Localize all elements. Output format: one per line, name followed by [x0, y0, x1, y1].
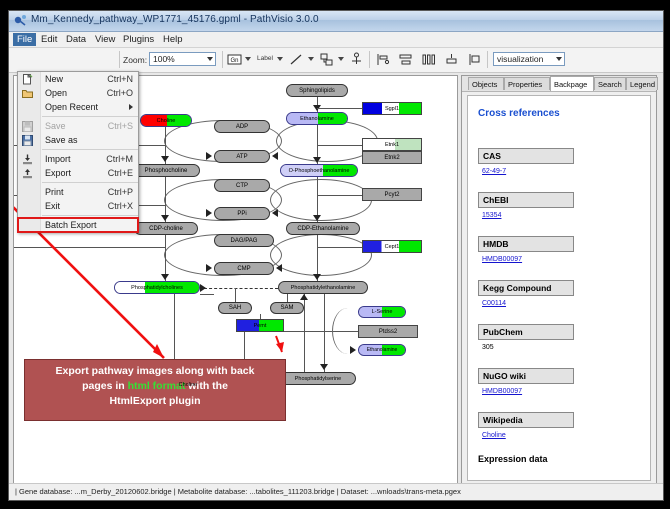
edge-to-sah — [235, 288, 236, 302]
menu-separator — [42, 116, 138, 117]
application-window: Mm_Kennedy_pathway_WP1771_45176.gpml - P… — [8, 10, 664, 501]
node-etnk1[interactable]: Etnk1 — [362, 138, 422, 151]
export-icon — [22, 168, 33, 179]
arrowhead-into-cmp-right — [276, 264, 282, 272]
arrowhead-down-7 — [313, 274, 321, 280]
same-width-tool-icon[interactable] — [444, 52, 459, 67]
node-sgpl1[interactable]: Sgpl1 — [362, 102, 422, 115]
node-sphingolipids[interactable]: Sphingolipids — [286, 84, 348, 97]
line-tool-icon[interactable] — [289, 52, 304, 67]
side-panel-tabs[interactable]: Objects Properties Backpage Search Legen… — [462, 76, 656, 92]
annotation-callout: Export pathway images along with back pa… — [24, 359, 286, 421]
annotation-line-1: Export pathway images along with back — [31, 364, 279, 379]
node-ethanolamine-2[interactable]: Ethanolamine — [358, 344, 406, 356]
menu-item-export[interactable]: Export Ctrl+E — [18, 166, 138, 180]
menu-file[interactable]: File — [13, 33, 36, 46]
node-adp[interactable]: ADP — [214, 120, 270, 133]
arrowhead-into-ppi-right — [272, 209, 278, 217]
node-pcyt2[interactable]: Pcyt2 — [362, 188, 422, 201]
node-label: L-Serine — [372, 309, 393, 315]
align-center-tool-icon[interactable] — [398, 52, 413, 67]
menu-edit[interactable]: Edit — [37, 33, 61, 46]
arrowhead-down-5 — [313, 157, 321, 163]
edge-to-pcyt2 — [317, 195, 363, 196]
file-menu-dropdown[interactable]: New Ctrl+N Open Ctrl+O Open Recent Save … — [17, 71, 139, 233]
node-cdp-ethanolamine[interactable]: CDP-Ethanolamine — [286, 222, 360, 235]
node-phosphatidylcholines[interactable]: Phosphatidylcholines — [114, 281, 200, 294]
xref-label: PubChem — [478, 324, 574, 340]
menu-item-label: Save — [45, 119, 66, 133]
save-as-icon — [22, 135, 33, 146]
arrowhead-down-3 — [161, 274, 169, 280]
new-file-icon — [22, 74, 33, 85]
node-cept1[interactable]: Cept1 — [362, 240, 422, 253]
backpage-content[interactable]: Cross references CAS 62-49-7 ChEBI 15354… — [467, 95, 651, 481]
zoom-combo[interactable]: 100% — [149, 52, 216, 66]
node-label: Choline — [179, 382, 198, 388]
annotation-line-2: pages in html format with the — [31, 379, 279, 394]
menu-item-save-as[interactable]: Save as — [18, 133, 138, 147]
node-label: CDP-choline — [149, 226, 183, 232]
arrowhead-into-cmp-left — [206, 264, 212, 272]
tab-legend[interactable]: Legend — [626, 77, 658, 90]
xref-label: Kegg Compound — [478, 280, 574, 296]
anchor-tool-icon[interactable] — [349, 52, 364, 67]
menu-item-exit[interactable]: Exit Ctrl+X — [18, 199, 138, 213]
node-label: PPi — [237, 211, 246, 217]
edge-ptdcholine-to-ptdetn — [204, 288, 278, 289]
menu-item-accel: Ctrl+M — [106, 152, 133, 166]
xref-value-link[interactable]: C00114 — [478, 300, 574, 307]
node-label: Sgpl1 — [385, 106, 399, 112]
node-label: Choline — [157, 118, 176, 124]
menu-item-label: Open Recent — [45, 100, 98, 114]
node-phosphocholine[interactable]: Phosphocholine — [132, 164, 200, 177]
node-atp[interactable]: ATP — [214, 150, 270, 163]
chevron-down-icon — [207, 57, 213, 61]
node-dag-pag[interactable]: DAG/PAG — [214, 234, 274, 247]
node-sam[interactable]: SAM — [270, 302, 304, 314]
shape-tool-icon[interactable] — [319, 52, 334, 67]
node-ctp[interactable]: CTP — [214, 179, 270, 192]
side-panel: Objects Properties Backpage Search Legen… — [461, 75, 657, 484]
arrowhead-into-ppi-left — [206, 209, 212, 217]
xref-value-link[interactable]: Choline — [478, 432, 574, 439]
status-text: | Gene database: ...m_Derby_20120602.bri… — [15, 487, 461, 496]
menu-item-accel: Ctrl+N — [107, 72, 133, 86]
menu-item-label: Import — [45, 152, 71, 166]
xref-label: CAS — [478, 148, 574, 164]
xref-label: NuGO wiki — [478, 368, 574, 384]
menu-help[interactable]: Help — [159, 33, 187, 46]
node-label: Etnk1 — [385, 142, 399, 148]
menu-item-accel: Ctrl+O — [107, 86, 133, 100]
visualization-value: visualization — [497, 54, 543, 64]
menu-item-label: New — [45, 72, 63, 86]
window-title: Mm_Kennedy_pathway_WP1771_45176.gpml - P… — [31, 14, 319, 25]
node-label: Phosphocholine — [145, 168, 188, 174]
arrowhead-into-atp-right — [272, 152, 278, 160]
node-label: Pcyt2 — [384, 192, 399, 198]
tab-backpage[interactable]: Backpage — [550, 76, 594, 91]
node-label: Sphingolipids — [299, 88, 335, 94]
menu-item-batch-export[interactable]: Batch Export — [18, 218, 138, 232]
menu-item-accel: Ctrl+P — [108, 185, 133, 199]
tab-properties[interactable]: Properties — [504, 77, 550, 90]
shape-tool-chevron-down-icon[interactable] — [338, 57, 344, 61]
node-ppi[interactable]: PPi — [214, 207, 270, 220]
menu-item-accel: Ctrl+S — [108, 119, 133, 133]
node-choline[interactable]: Choline — [140, 114, 192, 127]
cross-references-title: Cross references — [478, 108, 560, 119]
label-tool-chevron-down-icon[interactable] — [277, 57, 283, 61]
node-ethanolamine-1[interactable]: Ethanolamine — [286, 112, 348, 125]
node-label: ADP — [236, 124, 248, 130]
node-cdp-choline[interactable]: CDP-choline — [134, 222, 198, 235]
edge-to-cept1 — [317, 247, 363, 248]
node-phosphatidylserine[interactable]: Phosphatidylserine — [280, 372, 356, 385]
xref-value-link[interactable]: HMDB00097 — [478, 388, 574, 395]
menu-item-label: Open — [45, 86, 67, 100]
menu-item-open[interactable]: Open Ctrl+O — [18, 86, 138, 100]
node-etnk2[interactable]: Etnk2 — [362, 151, 422, 164]
xref-label: Wikipedia — [478, 412, 574, 428]
menu-item-accel: Ctrl+E — [108, 166, 133, 180]
menu-view[interactable]: View — [91, 33, 119, 46]
visualization-combo[interactable]: visualization — [493, 52, 565, 66]
node-label: Phosphatidylserine — [295, 376, 341, 382]
node-label: SAM — [280, 305, 293, 311]
node-pemt[interactable]: Pemt — [236, 319, 284, 332]
menu-item-new[interactable]: New Ctrl+N — [18, 72, 138, 86]
menu-data[interactable]: Data — [62, 33, 90, 46]
xref-label: HMDB — [478, 236, 574, 252]
xref-chebi: ChEBI 15354 — [478, 192, 574, 219]
node-phosphatidylethanolamine[interactable]: Phosphatidylethanolamine — [278, 281, 368, 294]
edge-to-etnk — [317, 145, 363, 146]
node-label: ATP — [236, 154, 247, 160]
node-label: DAG/PAG — [231, 238, 258, 244]
open-folder-icon — [22, 88, 33, 99]
node-l-serine[interactable]: L-Serine — [358, 306, 406, 318]
line-tool-chevron-down-icon[interactable] — [308, 57, 314, 61]
node-label: Ethanolamine — [300, 116, 334, 122]
arrowhead-down-ptdserine — [320, 364, 328, 370]
arrowhead-down-6 — [313, 215, 321, 221]
node-ptdss2[interactable]: Ptdss2 — [358, 325, 418, 338]
xref-value-link[interactable]: HMDB00097 — [478, 256, 574, 263]
node-label: SAH — [229, 305, 241, 311]
arrowhead-up-ptdetn — [300, 294, 308, 300]
menu-item-label: Batch Export — [45, 218, 97, 232]
gene-product-tool-icon[interactable]: Gn — [227, 52, 242, 67]
reaction-ellipse-5 — [270, 179, 372, 221]
arrowhead-down-2 — [161, 215, 169, 221]
menu-item-print[interactable]: Print Ctrl+P — [18, 185, 138, 199]
edge-to-sgpl1 — [317, 108, 363, 109]
menu-item-import[interactable]: Import Ctrl+M — [18, 152, 138, 166]
xref-value: 305 — [478, 344, 574, 351]
xref-value-link[interactable]: 62-49-7 — [478, 168, 574, 175]
xref-cas: CAS 62-49-7 — [478, 148, 574, 175]
screenshot-root: Mm_Kennedy_pathway_WP1771_45176.gpml - P… — [0, 0, 670, 509]
tab-search[interactable]: Search — [594, 77, 626, 90]
xref-label: ChEBI — [478, 192, 574, 208]
node-cmp[interactable]: CMP — [214, 262, 274, 275]
node-label: Cept1 — [385, 244, 400, 250]
menu-item-label: Save as — [45, 133, 78, 147]
zoom-value: 100% — [153, 54, 175, 64]
menu-item-label: Exit — [45, 199, 60, 213]
edge-ptdcholine-down — [200, 294, 214, 295]
node-label: Pemt — [254, 323, 267, 329]
arrowhead-pemt — [200, 284, 206, 292]
xref-nugo-wiki: NuGO wiki HMDB00097 — [478, 368, 574, 395]
menu-item-label: Print — [45, 185, 64, 199]
status-bar: | Gene database: ...m_Derby_20120602.bri… — [9, 483, 663, 500]
menu-separator — [42, 149, 138, 150]
node-label: CDP-Ethanolamine — [297, 226, 348, 232]
node-label: CMP — [237, 266, 250, 272]
node-label: Ethanolamine — [367, 347, 398, 353]
tool-bar[interactable]: Zoom: 100% Gn Label — [9, 48, 663, 73]
menu-item-open-recent[interactable]: Open Recent — [18, 100, 138, 114]
node-label: CTP — [236, 183, 248, 189]
annotation-highlight: html format — [128, 380, 186, 392]
menu-bar[interactable]: File Edit Data View Plugins Help — [9, 32, 663, 48]
submenu-chevron-right-icon — [129, 104, 133, 110]
title-bar: Mm_Kennedy_pathway_WP1771_45176.gpml - P… — [9, 11, 663, 32]
node-label: Phosphatidylcholines — [131, 285, 183, 291]
stack-tool-icon[interactable] — [467, 52, 482, 67]
xref-kegg-compound: Kegg Compound C00114 — [478, 280, 574, 307]
node-label: Etnk2 — [384, 155, 399, 161]
arrowhead-into-atp-left — [206, 152, 212, 160]
menu-item-accel: Ctrl+X — [108, 199, 133, 213]
annotation-line-3: HtmlExport plugin — [31, 394, 279, 409]
pathvisio-icon — [13, 14, 27, 28]
align-left-tool-icon[interactable] — [375, 52, 390, 67]
xref-value-link[interactable]: 15354 — [478, 212, 574, 219]
chevron-down-icon — [556, 57, 562, 61]
reaction-ellipse-6 — [270, 234, 372, 276]
node-sah[interactable]: SAH — [218, 302, 252, 314]
edge-left-3 — [14, 247, 166, 248]
xref-hmdb: HMDB HMDB00097 — [478, 236, 574, 263]
menu-item-label: Export — [45, 166, 71, 180]
menu-item-save: Save Ctrl+S — [18, 119, 138, 133]
label-tool-icon[interactable]: Label — [257, 55, 273, 62]
xref-wikipedia: Wikipedia Choline — [478, 412, 574, 439]
arrowhead-down-1 — [161, 156, 169, 162]
distribute-tool-icon[interactable] — [421, 52, 436, 67]
node-label: O-Phosphoethanolamine — [289, 168, 350, 174]
annotation-line2-pre: pages in — [82, 380, 128, 392]
xref-pubchem: PubChem 305 — [478, 324, 574, 351]
node-label: Ptdss2 — [379, 329, 397, 335]
edge-ptdetn-to-ptdserine — [324, 294, 325, 372]
menu-separator — [42, 215, 138, 216]
node-o-phosphoethanolamine[interactable]: O-Phosphoethanolamine — [280, 164, 358, 177]
edge-ptdserine-to-ptdetn — [304, 294, 305, 372]
zoom-label: Zoom: — [123, 55, 147, 65]
save-icon — [22, 121, 33, 132]
menu-separator — [42, 182, 138, 183]
gene-tool-chevron-down-icon[interactable] — [245, 57, 251, 61]
expression-data-title: Expression data — [478, 454, 548, 464]
node-label: Phosphatidylethanolamine — [291, 285, 356, 291]
menu-plugins[interactable]: Plugins — [119, 33, 158, 46]
import-icon — [22, 154, 33, 165]
tab-objects[interactable]: Objects — [468, 77, 504, 90]
svg-text:Gn: Gn — [230, 58, 238, 64]
